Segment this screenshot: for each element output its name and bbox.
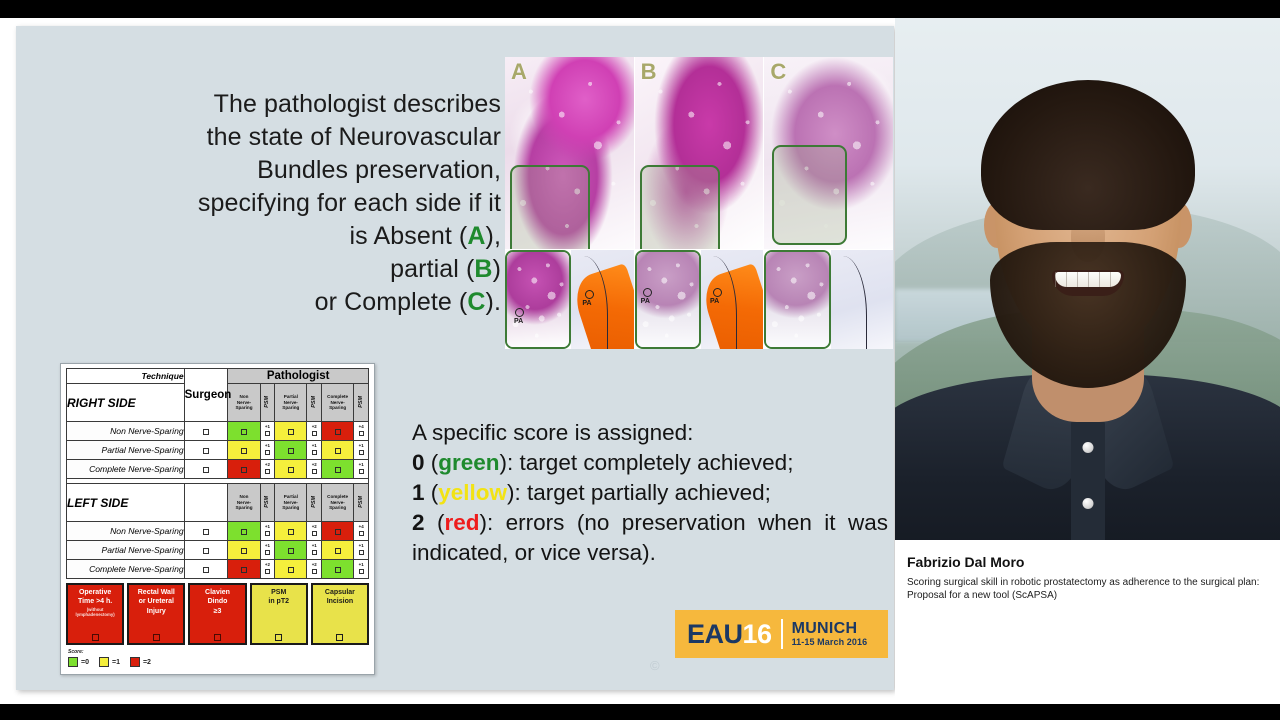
roi-box-b <box>640 165 720 249</box>
row-label: Partial Nerve-Sparing <box>67 541 185 560</box>
histology-detail-row: PA PA PA <box>505 249 893 349</box>
complication-line-2: Dindo <box>208 597 228 606</box>
checkbox-icon[interactable] <box>359 550 364 555</box>
surgeon-checkbox-cell[interactable] <box>184 460 228 479</box>
table-row[interactable]: Complete Nerve-Sparing +2 +2 +1 <box>67 560 369 579</box>
legend-item-1: =1 <box>99 657 120 667</box>
scoring-heading: A specific score is assigned: <box>412 418 888 448</box>
scoring-paragraph: A specific score is assigned: 0 (green):… <box>412 418 888 568</box>
checkbox-icon[interactable] <box>203 548 209 554</box>
score-cell[interactable] <box>228 460 260 479</box>
header-technique: Technique <box>67 369 185 384</box>
complication-clavien-dindo[interactable]: Clavien Dindo ≥3 <box>188 583 246 645</box>
letterbox-top <box>0 0 1280 18</box>
psm-cell[interactable]: +1 <box>307 441 322 460</box>
score-number-1: 1 <box>412 480 425 505</box>
section-title-right: RIGHT SIDE <box>67 384 185 422</box>
checkbox-icon[interactable] <box>203 448 209 454</box>
score-cell[interactable] <box>228 422 260 441</box>
checkbox-icon[interactable] <box>359 431 364 436</box>
screenshot-stage: The pathologist describes the state of N… <box>0 0 1280 720</box>
pa-label: PA <box>582 300 591 307</box>
section-title-left: LEFT SIDE <box>67 484 185 522</box>
beard <box>990 242 1186 388</box>
complications-row: Operative Time >4 h. (without lymphadene… <box>66 583 369 645</box>
row-label: Partial Nerve-Sparing <box>67 441 185 460</box>
subheader-psm-1: PSM <box>260 484 275 522</box>
scoring-row-0: 0 (green): target completely achieved; <box>412 448 888 478</box>
complication-capsular-incision[interactable]: Capsular Incision <box>311 583 369 645</box>
speaker-caption: Fabrizio Dal Moro Scoring surgical skill… <box>895 540 1280 704</box>
intro-line-2: the state of Neurovascular <box>121 121 501 154</box>
legend-label: =2 <box>143 659 151 666</box>
psm-cell[interactable]: +1 <box>260 422 275 441</box>
detail-pair-c <box>764 250 893 349</box>
score-cell[interactable] <box>322 522 354 541</box>
psm-cell[interactable]: +1 <box>354 541 369 560</box>
legend-title: Score: <box>68 649 369 655</box>
eau-location-block: MUNICH 11-15 March 2016 <box>792 621 868 648</box>
complication-psm-pt2[interactable]: PSM in pT2 <box>250 583 308 645</box>
table-row[interactable]: Complete Nerve-Sparing +2 +2 +1 <box>67 460 369 479</box>
checkbox-icon[interactable] <box>288 429 294 435</box>
copyright-watermark: © <box>650 658 660 673</box>
table-row[interactable]: Partial Nerve-Sparing +1 +1 +1 <box>67 441 369 460</box>
subheader-partial-nerve-sparing: PartialNerve-Sparing <box>275 384 307 422</box>
score-cell[interactable] <box>322 441 354 460</box>
psm-cell[interactable]: +1 <box>260 441 275 460</box>
complication-line-2: in pT2 <box>268 597 289 606</box>
detail-margin-b: PA <box>701 250 763 349</box>
checkbox-icon[interactable] <box>203 467 209 473</box>
complication-line-1: Clavien <box>205 588 230 597</box>
table-header-row: Technique Surgeon Pathologist <box>67 369 369 384</box>
intro-line-3: Bundles preservation, <box>121 154 501 187</box>
score-cell[interactable] <box>322 422 354 441</box>
score-desc-1: target partially achieved; <box>527 480 771 505</box>
row-label: Complete Nerve-Sparing <box>67 460 185 479</box>
detail-pair-a: PA PA <box>505 250 635 349</box>
score-cell[interactable] <box>322 541 354 560</box>
scoring-row-1: 1 (yellow): target partially achieved; <box>412 478 888 508</box>
legend-item-2: =2 <box>130 657 151 667</box>
checkbox-icon[interactable] <box>312 450 317 455</box>
histology-figure: A B C <box>505 57 893 349</box>
pa-ring-icon <box>713 288 722 297</box>
checkbox-icon[interactable] <box>312 531 317 536</box>
shirt-button-bottom <box>1082 498 1093 509</box>
subheader-psm-3: PSM <box>354 484 369 522</box>
score-number-2: 2 <box>412 510 425 535</box>
legend-label: =1 <box>112 659 120 666</box>
checkbox-icon[interactable] <box>265 569 270 574</box>
subheader-psm-2: PSM <box>307 484 322 522</box>
histology-panel-b: B <box>635 57 765 249</box>
row-label: Non Nerve-Sparing <box>67 522 185 541</box>
eau-year: 16 <box>743 619 772 649</box>
checkbox-icon[interactable] <box>265 531 270 536</box>
detail-zoom-b: PA <box>635 250 701 349</box>
checkbox-icon[interactable] <box>335 467 341 473</box>
checkbox-icon[interactable] <box>265 450 270 455</box>
header-surgeon: Surgeon <box>184 369 228 422</box>
psm-cell[interactable]: +2 <box>307 522 322 541</box>
pa-label: PA <box>710 298 719 305</box>
surgeon-spacer <box>184 484 228 522</box>
checkbox-icon[interactable] <box>153 634 160 641</box>
checkbox-icon[interactable] <box>241 529 247 535</box>
scoring-row-2: 2 (red): errors (no preservation when it… <box>412 508 888 568</box>
complication-rectal-ureteral-injury[interactable]: Rectal Wall or Ureteral Injury <box>127 583 185 645</box>
letterbox-bottom <box>0 704 1280 720</box>
psm-cell[interactable]: +1 <box>354 560 369 579</box>
detail-pair-b: PA PA <box>635 250 765 349</box>
intro-line-6: partial (B) <box>121 253 501 286</box>
psm-cell[interactable]: +1 <box>260 522 275 541</box>
checkbox-icon[interactable] <box>92 634 99 641</box>
checkbox-icon[interactable] <box>312 550 317 555</box>
complication-line-1: Rectal Wall <box>138 588 175 597</box>
psm-cell[interactable]: +2 <box>260 560 275 579</box>
intro-paragraph: The pathologist describes the state of N… <box>121 88 501 319</box>
panel-label-a: A <box>511 59 527 85</box>
legend-item-0: =0 <box>68 657 89 667</box>
table-row[interactable]: Partial Nerve-Sparing +1 +1 +1 <box>67 541 369 560</box>
score-cell[interactable] <box>228 560 260 579</box>
checkbox-icon[interactable] <box>288 567 294 573</box>
subheader-complete-nerve-sparing: CompleteNerve-Sparing <box>322 384 354 422</box>
row-label: Non Nerve-Sparing <box>67 422 185 441</box>
score-cell[interactable] <box>275 460 307 479</box>
score-cell[interactable] <box>275 441 307 460</box>
detail-zoom-c <box>764 250 830 349</box>
histology-panel-c: C <box>764 57 893 249</box>
complication-line-1: Capsular <box>325 588 355 597</box>
checkbox-icon[interactable] <box>288 448 294 454</box>
speaker-photo <box>895 18 1280 540</box>
complication-line-2: Incision <box>327 597 353 606</box>
checkbox-icon[interactable] <box>335 529 341 535</box>
checkbox-icon[interactable] <box>275 634 282 641</box>
eau16-logo: EAU16 MUNICH 11-15 March 2016 <box>675 610 888 658</box>
eau-city: MUNICH <box>792 621 868 638</box>
psm-cell[interactable]: +2 <box>260 460 275 479</box>
checkbox-icon[interactable] <box>359 531 364 536</box>
score-cell[interactable] <box>228 441 260 460</box>
psm-cell[interactable]: +2 <box>307 560 322 579</box>
surgeon-checkbox-cell[interactable] <box>184 522 228 541</box>
eau-wordmark: EAU16 <box>687 621 772 648</box>
eau-letters: EAU <box>687 619 743 649</box>
score-cell[interactable] <box>228 541 260 560</box>
complication-operative-time[interactable]: Operative Time >4 h. (without lymphadene… <box>66 583 124 645</box>
checkbox-icon[interactable] <box>335 429 341 435</box>
checkbox-icon[interactable] <box>335 548 341 554</box>
row-label: Complete Nerve-Sparing <box>67 560 185 579</box>
legend-items: =0 =1 =2 <box>68 657 369 667</box>
grade-key-a: A <box>467 222 485 250</box>
checkbox-icon[interactable] <box>203 429 209 435</box>
checkbox-icon[interactable] <box>312 569 317 574</box>
score-cell[interactable] <box>322 560 354 579</box>
scapsa-table-card[interactable]: Technique Surgeon Pathologist RIGHT SIDE… <box>60 363 375 675</box>
panel-label-b: B <box>641 59 657 85</box>
score-cell[interactable] <box>228 522 260 541</box>
psm-cell[interactable]: +4 <box>354 422 369 441</box>
surgeon-checkbox-cell[interactable] <box>184 560 228 579</box>
checkbox-icon[interactable] <box>359 469 364 474</box>
pa-ring-icon <box>643 288 652 297</box>
teeth <box>1055 272 1121 287</box>
complication-line-1: PSM <box>271 588 286 597</box>
complication-line-2: or Ureteral <box>139 597 174 606</box>
subheader-non-nerve-sparing: NonNerve-Sparing <box>228 384 260 422</box>
checkbox-icon[interactable] <box>265 550 270 555</box>
psm-cell[interactable]: +1 <box>354 460 369 479</box>
complication-note: (without lymphadenectomy) <box>69 607 121 617</box>
legend-label: =0 <box>81 659 89 666</box>
eau-dates: 11-15 March 2016 <box>792 637 868 647</box>
intro-line-4: specifying for each side if it <box>121 187 501 220</box>
score-color-word-0: green <box>438 450 499 475</box>
checkbox-icon[interactable] <box>288 529 294 535</box>
subheader-psm-1: PSM <box>260 384 275 422</box>
psm-cell[interactable]: +4 <box>354 522 369 541</box>
legend-swatch-red <box>130 657 140 667</box>
shirt-placket <box>1071 420 1105 540</box>
score-color-word-2: red <box>444 510 479 535</box>
grade-key-c: C <box>467 288 485 316</box>
checkbox-icon[interactable] <box>265 469 270 474</box>
tissue-speckle <box>766 252 828 347</box>
score-desc-0: target completely achieved; <box>520 450 794 475</box>
panel-label-c: C <box>770 59 786 85</box>
hair <box>981 80 1195 230</box>
detail-zoom-a: PA <box>505 250 571 349</box>
checkbox-icon[interactable] <box>312 469 317 474</box>
intro-line-1: The pathologist describes <box>121 88 501 121</box>
score-cell[interactable] <box>275 541 307 560</box>
histology-overview-row: A B C <box>505 57 893 249</box>
checkbox-icon[interactable] <box>214 634 221 641</box>
checkbox-icon[interactable] <box>241 548 247 554</box>
roi-box-c <box>772 145 847 245</box>
histology-panel-a: A <box>505 57 635 249</box>
legend-swatch-green <box>68 657 78 667</box>
header-pathologist: Pathologist <box>228 369 369 384</box>
pa-ring-icon <box>515 308 524 317</box>
score-cell[interactable] <box>275 560 307 579</box>
checkbox-icon[interactable] <box>335 567 341 573</box>
scapsa-table: Technique Surgeon Pathologist RIGHT SIDE… <box>66 368 369 579</box>
subheader-complete-nerve-sparing: CompleteNerve-Sparing <box>322 484 354 522</box>
score-color-word-1: yellow <box>438 480 507 505</box>
tissue-speckle <box>507 252 569 347</box>
speaker-portrait <box>962 74 1214 504</box>
psm-cell[interactable]: +1 <box>354 441 369 460</box>
complication-line-1: Operative <box>79 588 111 597</box>
subheader-psm-2: PSM <box>307 384 322 422</box>
checkbox-icon[interactable] <box>203 529 209 535</box>
complication-line-2: Time >4 h. <box>78 597 112 606</box>
complication-line-3: Injury <box>147 607 166 616</box>
grade-key-b: B <box>474 255 492 283</box>
subheader-non-nerve-sparing: NonNerve-Sparing <box>228 484 260 522</box>
surgeon-checkbox-cell[interactable] <box>184 422 228 441</box>
pa-label: PA <box>641 298 650 305</box>
detail-margin-a: PA <box>571 250 633 349</box>
checkbox-icon[interactable] <box>335 448 341 454</box>
speaker-name: Fabrizio Dal Moro <box>907 554 1268 571</box>
presentation-slide[interactable]: The pathologist describes the state of N… <box>16 26 894 690</box>
complication-line-3: ≥3 <box>214 607 222 616</box>
score-cell[interactable] <box>322 460 354 479</box>
logo-divider <box>781 619 783 649</box>
psm-cell[interactable]: +1 <box>260 541 275 560</box>
psm-cell[interactable]: +1 <box>307 541 322 560</box>
checkbox-icon[interactable] <box>203 567 209 573</box>
intro-line-7: or Complete (C). <box>121 286 501 319</box>
speaker-talk-title: Scoring surgical skill in robotic prosta… <box>907 576 1268 602</box>
checkbox-icon[interactable] <box>241 567 247 573</box>
checkbox-icon[interactable] <box>336 634 343 641</box>
score-cell[interactable] <box>275 522 307 541</box>
section-title-row-left: LEFT SIDE NonNerve-Sparing PSM PartialNe… <box>67 484 369 522</box>
roi-box-a <box>510 165 590 249</box>
checkbox-icon[interactable] <box>241 429 247 435</box>
psm-cell[interactable]: +2 <box>307 460 322 479</box>
intro-line-5: is Absent (A), <box>121 220 501 253</box>
checkbox-icon[interactable] <box>359 569 364 574</box>
score-cell[interactable] <box>275 422 307 441</box>
surgeon-checkbox-cell[interactable] <box>184 441 228 460</box>
subheader-partial-nerve-sparing: PartialNerve-Sparing <box>275 484 307 522</box>
shirt-button-top <box>1082 442 1093 453</box>
psm-cell[interactable]: +2 <box>307 422 322 441</box>
score-legend: Score: =0 =1 =2 <box>66 649 369 667</box>
score-number-0: 0 <box>412 450 425 475</box>
checkbox-icon[interactable] <box>288 548 294 554</box>
checkbox-icon[interactable] <box>241 467 247 473</box>
checkbox-icon[interactable] <box>359 450 364 455</box>
legend-swatch-yellow <box>99 657 109 667</box>
detail-margin-c <box>831 250 893 349</box>
pa-label: PA <box>514 318 523 325</box>
subheader-psm-3: PSM <box>354 384 369 422</box>
checkbox-icon[interactable] <box>288 467 294 473</box>
checkbox-icon[interactable] <box>241 448 247 454</box>
checkbox-icon[interactable] <box>265 431 270 436</box>
checkbox-icon[interactable] <box>312 431 317 436</box>
surgeon-checkbox-cell[interactable] <box>184 541 228 560</box>
table-row[interactable]: Non Nerve-Sparing +1 +2 +4 <box>67 522 369 541</box>
table-row[interactable]: Non Nerve-Sparing +1 +2 +4 <box>67 422 369 441</box>
